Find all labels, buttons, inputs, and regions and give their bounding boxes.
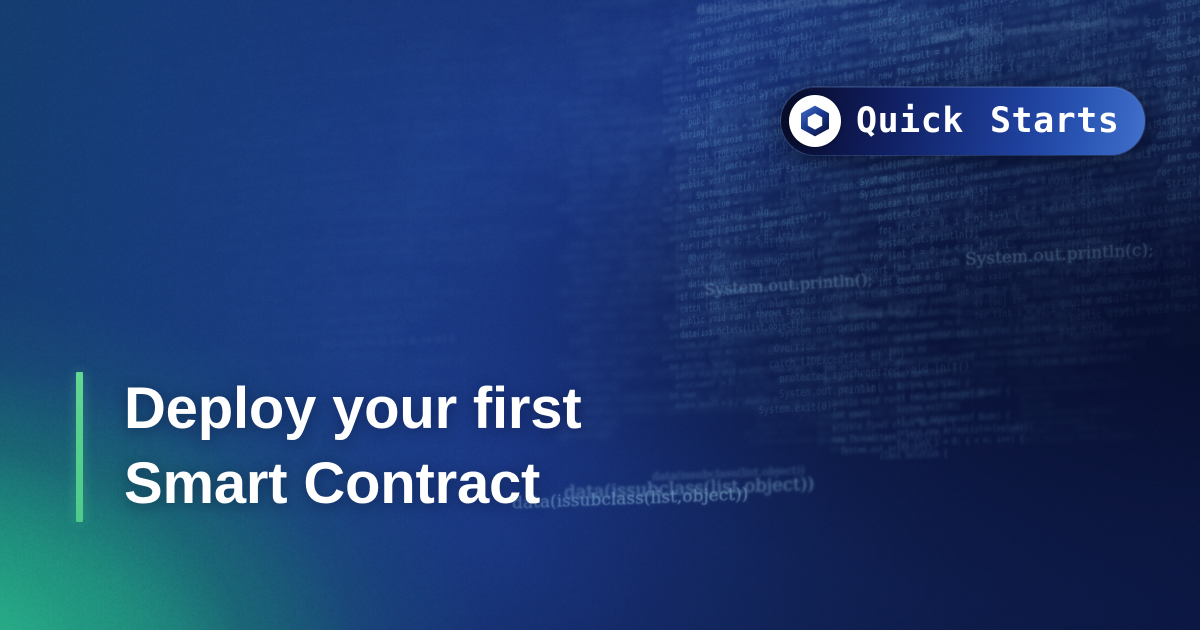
quickstarts-badge[interactable]: Quick Starts (781, 87, 1145, 155)
badge-label-starts: Starts (990, 101, 1119, 141)
quickstarts-banner: double result = a / (double) b; public v… (0, 0, 1200, 630)
accent-bar (76, 372, 83, 522)
badge-label-quick: Quick (856, 101, 964, 141)
chainlink-hexagon-icon (789, 95, 841, 147)
badge-label: Quick Starts (856, 104, 1119, 139)
page-title: Deploy your first Smart Contract (124, 372, 581, 522)
headline-block: Deploy your first Smart Contract (76, 372, 581, 522)
